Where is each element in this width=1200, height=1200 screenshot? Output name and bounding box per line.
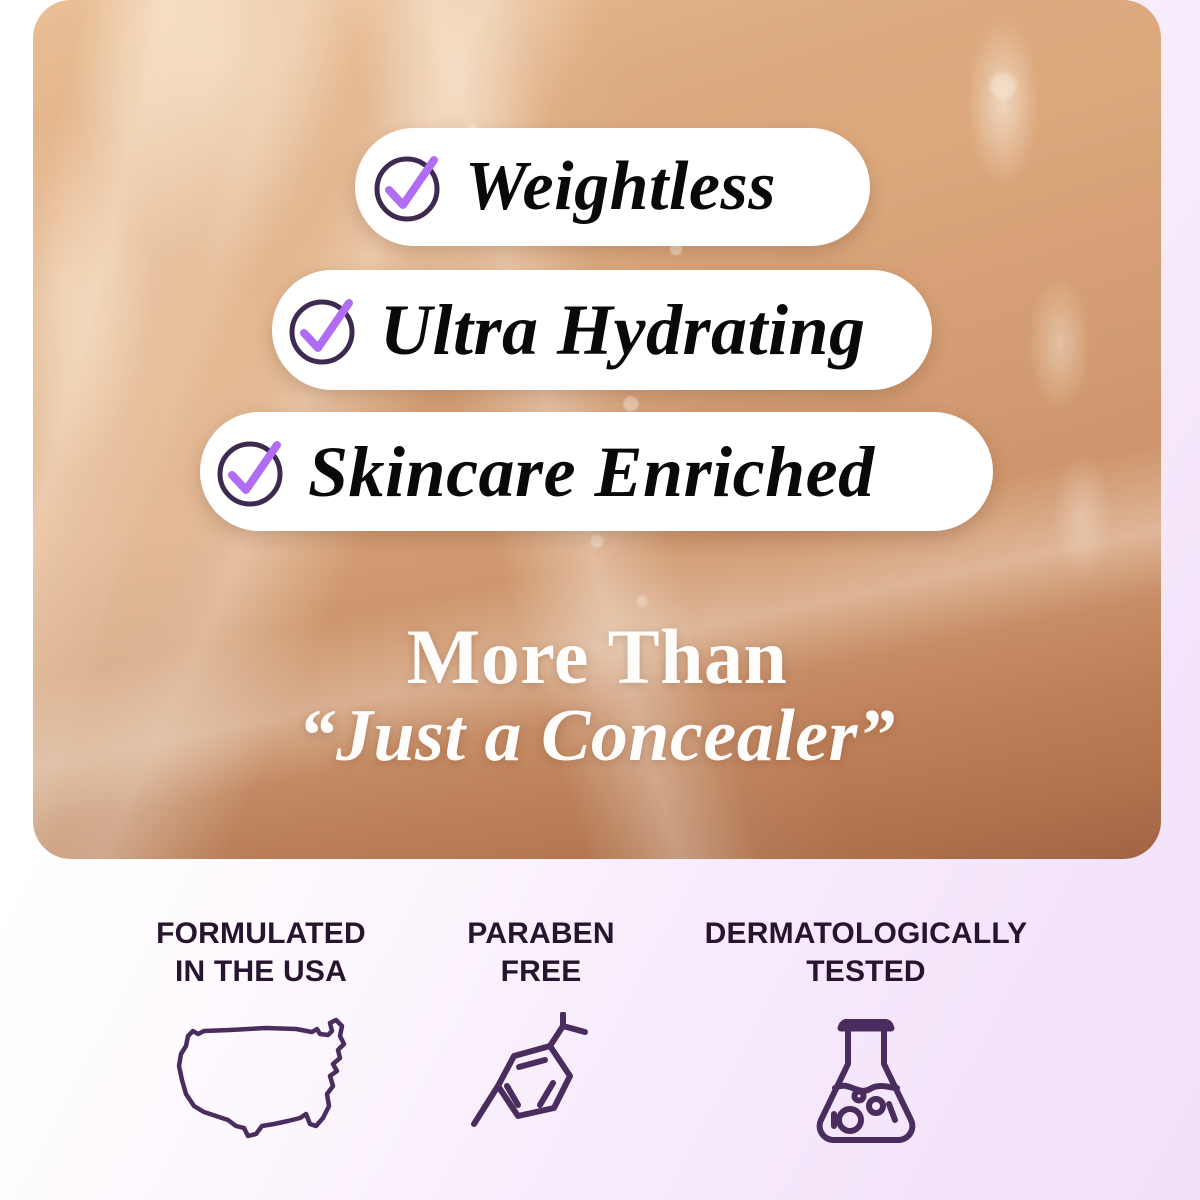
molecule-icon xyxy=(466,1012,616,1157)
badge-paraben-free: PARABEN FREE xyxy=(426,915,656,1157)
check-circle-icon xyxy=(214,434,290,510)
headline-line-primary: More Than xyxy=(33,620,1161,695)
check-circle-icon xyxy=(371,149,447,225)
product-feature-graphic: Weightless Ultra Hydrating Skincare Enri… xyxy=(0,0,1200,1200)
badge-formulated-in-usa: FORMULATED IN THE USA xyxy=(96,915,426,1149)
feature-pill-label: Weightless xyxy=(465,152,776,222)
feature-pill-skincare-enriched[interactable]: Skincare Enriched xyxy=(200,412,993,531)
check-circle-icon xyxy=(286,292,362,368)
headline-line-quote: “Just a Concealer” xyxy=(33,695,1161,778)
usa-map-icon xyxy=(170,1014,352,1149)
feature-pill-label: Skincare Enriched xyxy=(308,436,875,508)
hero-headline: More Than “Just a Concealer” xyxy=(33,620,1161,778)
badge-dermatologically-tested: DERMATOLOGICALLY TESTED xyxy=(656,915,1076,1153)
feature-pill-weightless[interactable]: Weightless xyxy=(355,128,870,246)
feature-pill-label: Ultra Hydrating xyxy=(380,294,866,366)
feature-pill-ultra-hydrating[interactable]: Ultra Hydrating xyxy=(272,270,932,390)
badge-label: PARABEN FREE xyxy=(467,915,615,990)
flask-icon xyxy=(810,1016,922,1153)
trust-badge-row: FORMULATED IN THE USA PARABEN FREE xyxy=(96,915,1136,1157)
badge-label: FORMULATED IN THE USA xyxy=(156,915,366,990)
badge-label: DERMATOLOGICALLY TESTED xyxy=(705,915,1028,990)
